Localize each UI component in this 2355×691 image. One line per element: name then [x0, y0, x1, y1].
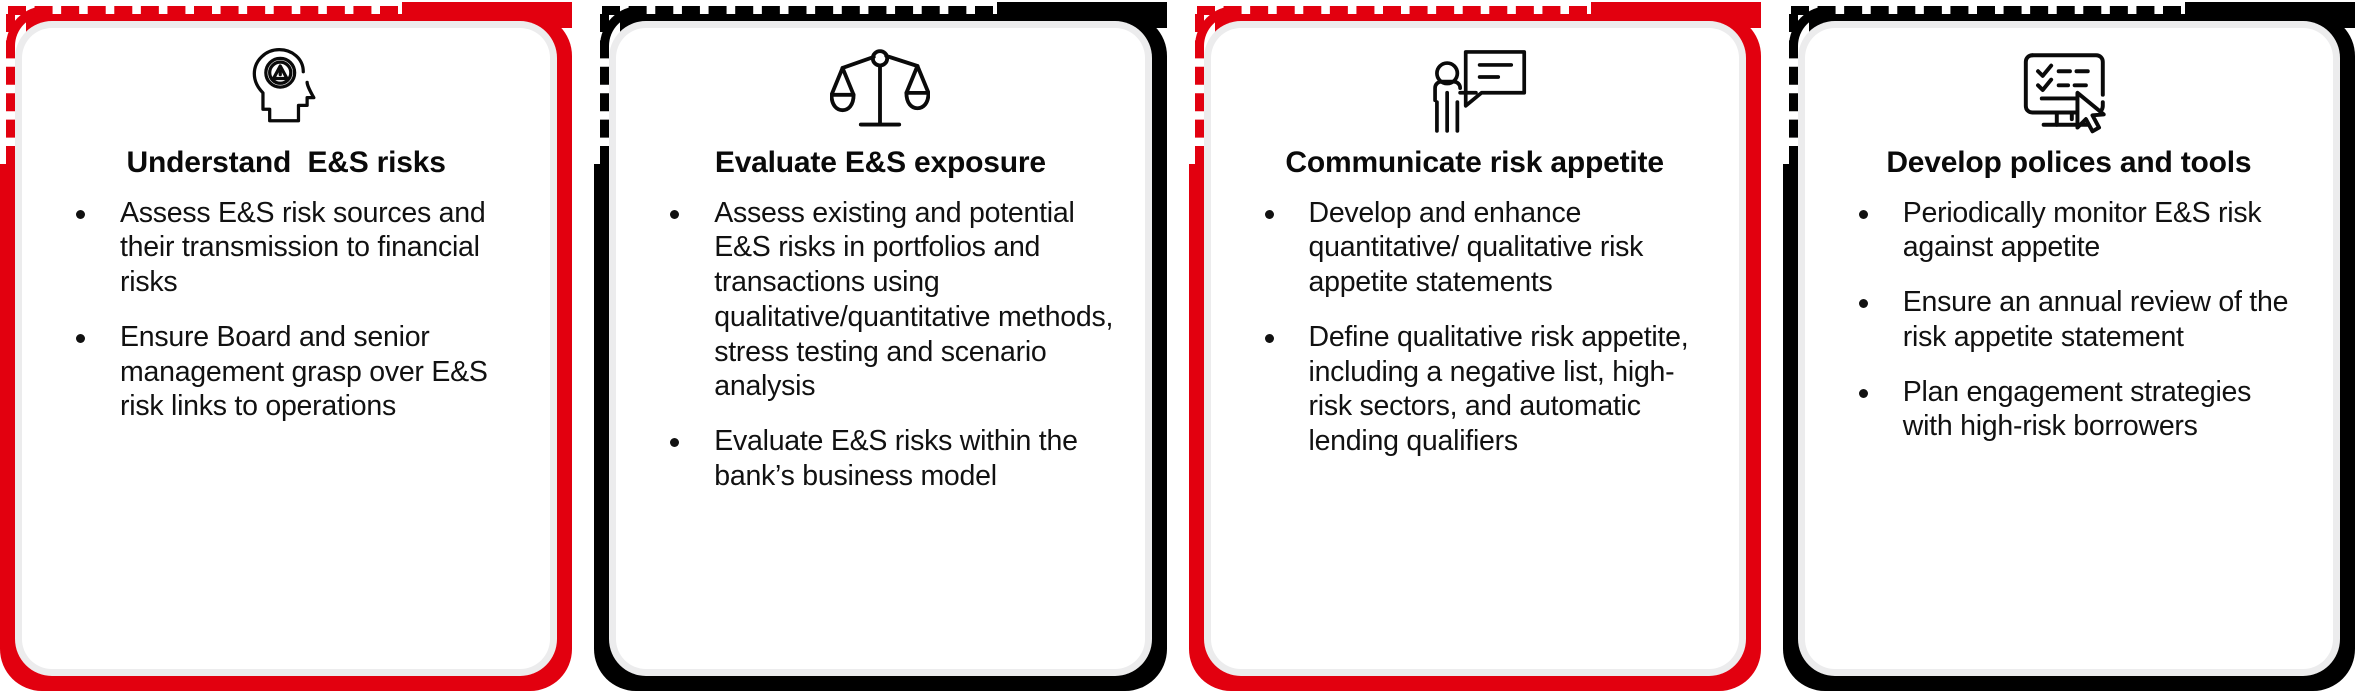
card-panel: Develop polices and tools Periodically m…	[1805, 28, 2333, 669]
balance-scales-icon	[642, 36, 1118, 144]
list-item: Periodically monitor E&S risk against ap…	[1857, 196, 2303, 266]
card-title: Evaluate E&S exposure	[642, 146, 1118, 180]
card-dashed-top-edge	[602, 6, 992, 15]
card-title: Communicate risk appetite	[1237, 146, 1713, 180]
card-dashed-left-edge	[600, 14, 609, 164]
list-item: Plan engagement strategies with high-ris…	[1857, 375, 2303, 445]
list-item: Assess existing and potential E&S risks …	[668, 196, 1114, 405]
card-bullet-list: Assess existing and potential E&S risks …	[642, 196, 1118, 659]
card-dashed-top-edge	[1791, 6, 2181, 15]
card-bullet-list: Develop and enhance quantitative/ qualit…	[1237, 196, 1713, 659]
head-warning-icon	[48, 36, 524, 144]
card-panel: Understand E&S risks Assess E&S risk sou…	[22, 28, 550, 669]
monitor-checklist-cursor-icon	[1831, 36, 2307, 144]
list-item: Define qualitative risk appetite, includ…	[1263, 320, 1709, 459]
card-top-accent-cap	[402, 2, 572, 28]
card-top-accent-cap	[2185, 2, 2355, 28]
person-speech-bubble-icon	[1237, 36, 1713, 144]
process-card: Evaluate E&S exposure Assess existing an…	[594, 0, 1166, 691]
process-card: Communicate risk appetite Develop and en…	[1189, 0, 1761, 691]
card-top-accent-cap	[1591, 2, 1761, 28]
process-card-row: Understand E&S risks Assess E&S risk sou…	[0, 0, 2355, 691]
card-dashed-top-edge	[8, 6, 398, 15]
process-card: Develop polices and tools Periodically m…	[1783, 0, 2355, 691]
list-item: Ensure Board and senior management grasp…	[74, 320, 520, 424]
card-panel: Communicate risk appetite Develop and en…	[1211, 28, 1739, 669]
card-top-accent-cap	[997, 2, 1167, 28]
list-item: Develop and enhance quantitative/ qualit…	[1263, 196, 1709, 300]
card-bullet-list: Assess E&S risk sources and their transm…	[48, 196, 524, 659]
card-dashed-top-edge	[1197, 6, 1587, 15]
list-item: Evaluate E&S risks within the bank’s bus…	[668, 424, 1114, 494]
card-dashed-left-edge	[6, 14, 15, 164]
card-bullet-list: Periodically monitor E&S risk against ap…	[1831, 196, 2307, 659]
list-item: Assess E&S risk sources and their transm…	[74, 196, 520, 300]
card-title: Develop polices and tools	[1831, 146, 2307, 180]
card-title: Understand E&S risks	[48, 146, 524, 180]
card-dashed-left-edge	[1789, 14, 1798, 164]
process-card: Understand E&S risks Assess E&S risk sou…	[0, 0, 572, 691]
list-item: Ensure an annual review of the risk appe…	[1857, 285, 2303, 355]
card-dashed-left-edge	[1195, 14, 1204, 164]
card-panel: Evaluate E&S exposure Assess existing an…	[616, 28, 1144, 669]
